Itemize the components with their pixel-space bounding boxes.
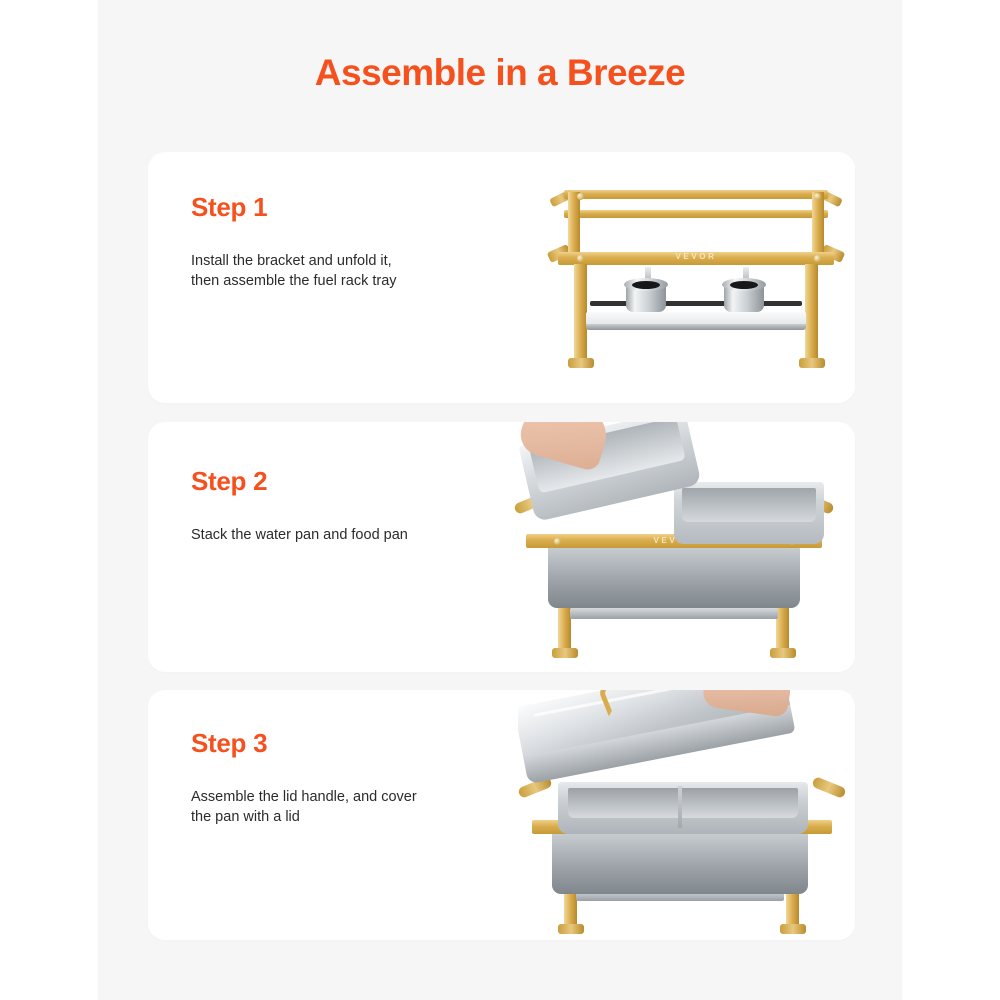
- step-card-2: Step 2 Stack the water pan and food pan: [148, 422, 855, 672]
- step-2-description: Stack the water pan and food pan: [191, 525, 481, 545]
- steps-list: Step 1 Install the bracket and unfold it…: [0, 0, 1000, 1000]
- chafing-dish-lid-illustration: VEVOR: [518, 690, 855, 940]
- chafing-dish-bracket-illustration: VEVOR: [546, 166, 855, 390]
- step-3-description: Assemble the lid handle, and cover the p…: [191, 787, 481, 827]
- chafing-dish-pans-illustration: VEVOR: [508, 422, 855, 670]
- step-3-product-image: VEVOR: [518, 690, 855, 940]
- water-pan: [552, 832, 808, 894]
- step-card-3: Step 3 Assemble the lid handle, and cove…: [148, 690, 855, 940]
- water-pan: [548, 546, 800, 608]
- food-pan: [558, 782, 808, 834]
- step-3-title: Step 3: [191, 728, 267, 759]
- brand-label: VEVOR: [546, 252, 846, 261]
- step-1-description: Install the bracket and unfold it, then …: [191, 251, 481, 291]
- fuel-holder: [722, 272, 766, 314]
- step-2-product-image: VEVOR: [508, 422, 855, 670]
- step-card-1: Step 1 Install the bracket and unfold it…: [148, 152, 855, 403]
- step-1-title: Step 1: [191, 192, 267, 223]
- step-1-product-image: VEVOR: [546, 166, 855, 390]
- step-2-title: Step 2: [191, 466, 267, 497]
- pan-divider: [678, 786, 682, 828]
- fuel-holder: [624, 272, 668, 314]
- food-pan-right: [674, 482, 824, 544]
